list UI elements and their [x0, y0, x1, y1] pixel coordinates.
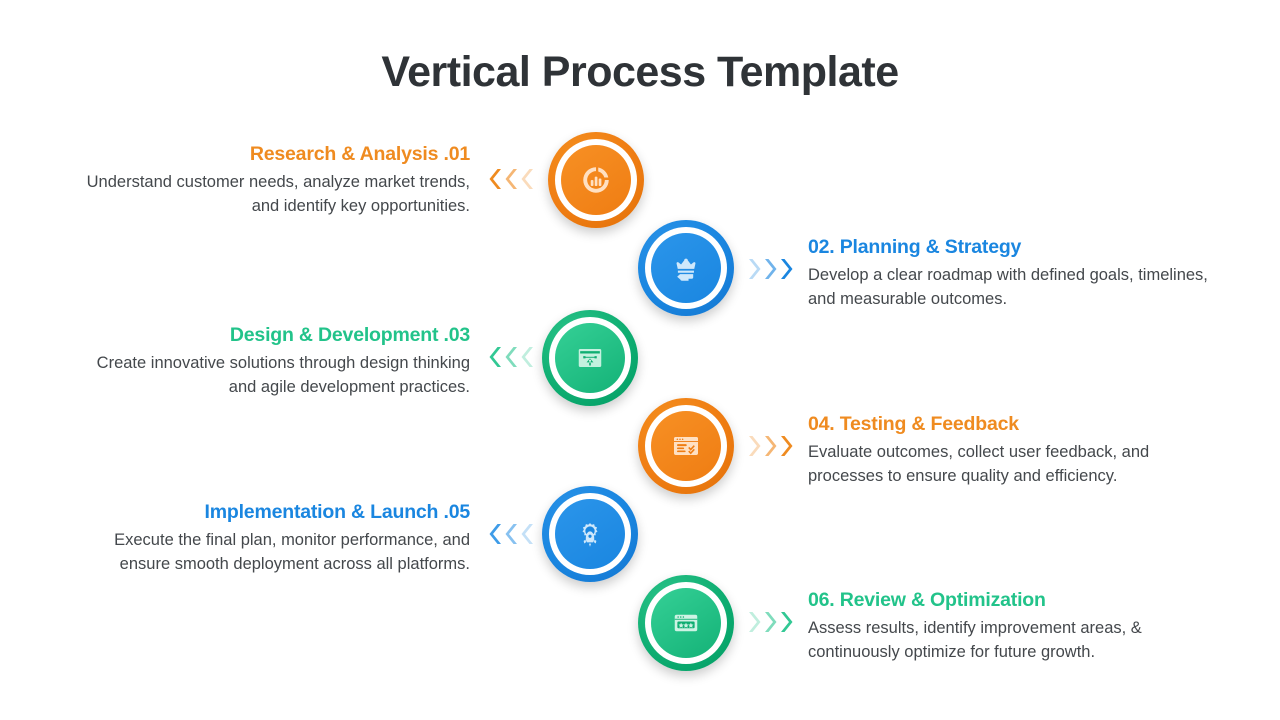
step-heading-06: 06. Review & Optimization	[808, 589, 1208, 612]
step-node-04[interactable]	[638, 398, 734, 494]
step-text-05: Implementation & Launch .05 Execute the …	[70, 501, 470, 576]
slide-canvas: Vertical Process Template Research & Ana…	[0, 0, 1280, 720]
step-heading-05: Implementation & Launch .05	[70, 501, 470, 524]
node-inner-06	[651, 588, 721, 658]
step-heading-04: 04. Testing & Feedback	[808, 413, 1208, 436]
step-body-04: Evaluate outcomes, collect user feedback…	[808, 441, 1208, 488]
page-title: Vertical Process Template	[0, 48, 1280, 97]
step-body-01: Understand customer needs, analyze marke…	[70, 171, 470, 218]
step-text-06: 06. Review & Optimization Assess results…	[808, 589, 1208, 664]
step-body-03: Create innovative solutions through desi…	[70, 352, 470, 399]
step-node-03[interactable]	[542, 310, 638, 406]
node-inner-05	[555, 499, 625, 569]
rocket-gear-icon	[572, 516, 608, 552]
step-heading-01: Research & Analysis .01	[70, 143, 470, 166]
step-heading-03: Design & Development .03	[70, 324, 470, 347]
step-body-06: Assess results, identify improvement are…	[808, 617, 1208, 664]
step-text-03: Design & Development .03 Create innovati…	[70, 324, 470, 399]
process-chain	[470, 120, 810, 690]
step-node-02[interactable]	[638, 220, 734, 316]
step-node-06[interactable]	[638, 575, 734, 671]
step-text-02: 02. Planning & Strategy Develop a clear …	[808, 236, 1208, 311]
step-body-05: Execute the final plan, monitor performa…	[70, 529, 470, 576]
step-body-02: Develop a clear roadmap with defined goa…	[808, 264, 1208, 311]
node-inner-04	[651, 411, 721, 481]
rating-stars-window-icon	[668, 605, 704, 641]
step-node-05[interactable]	[542, 486, 638, 582]
analytics-chart-icon	[578, 162, 614, 198]
node-inner-01	[561, 145, 631, 215]
step-node-01[interactable]	[548, 132, 644, 228]
step-text-01: Research & Analysis .01 Understand custo…	[70, 143, 470, 218]
strategy-crown-head-icon	[668, 250, 704, 286]
node-inner-02	[651, 233, 721, 303]
design-pen-tool-icon	[572, 340, 608, 376]
checklist-window-icon	[668, 428, 704, 464]
step-heading-02: 02. Planning & Strategy	[808, 236, 1208, 259]
node-inner-03	[555, 323, 625, 393]
step-text-04: 04. Testing & Feedback Evaluate outcomes…	[808, 413, 1208, 488]
